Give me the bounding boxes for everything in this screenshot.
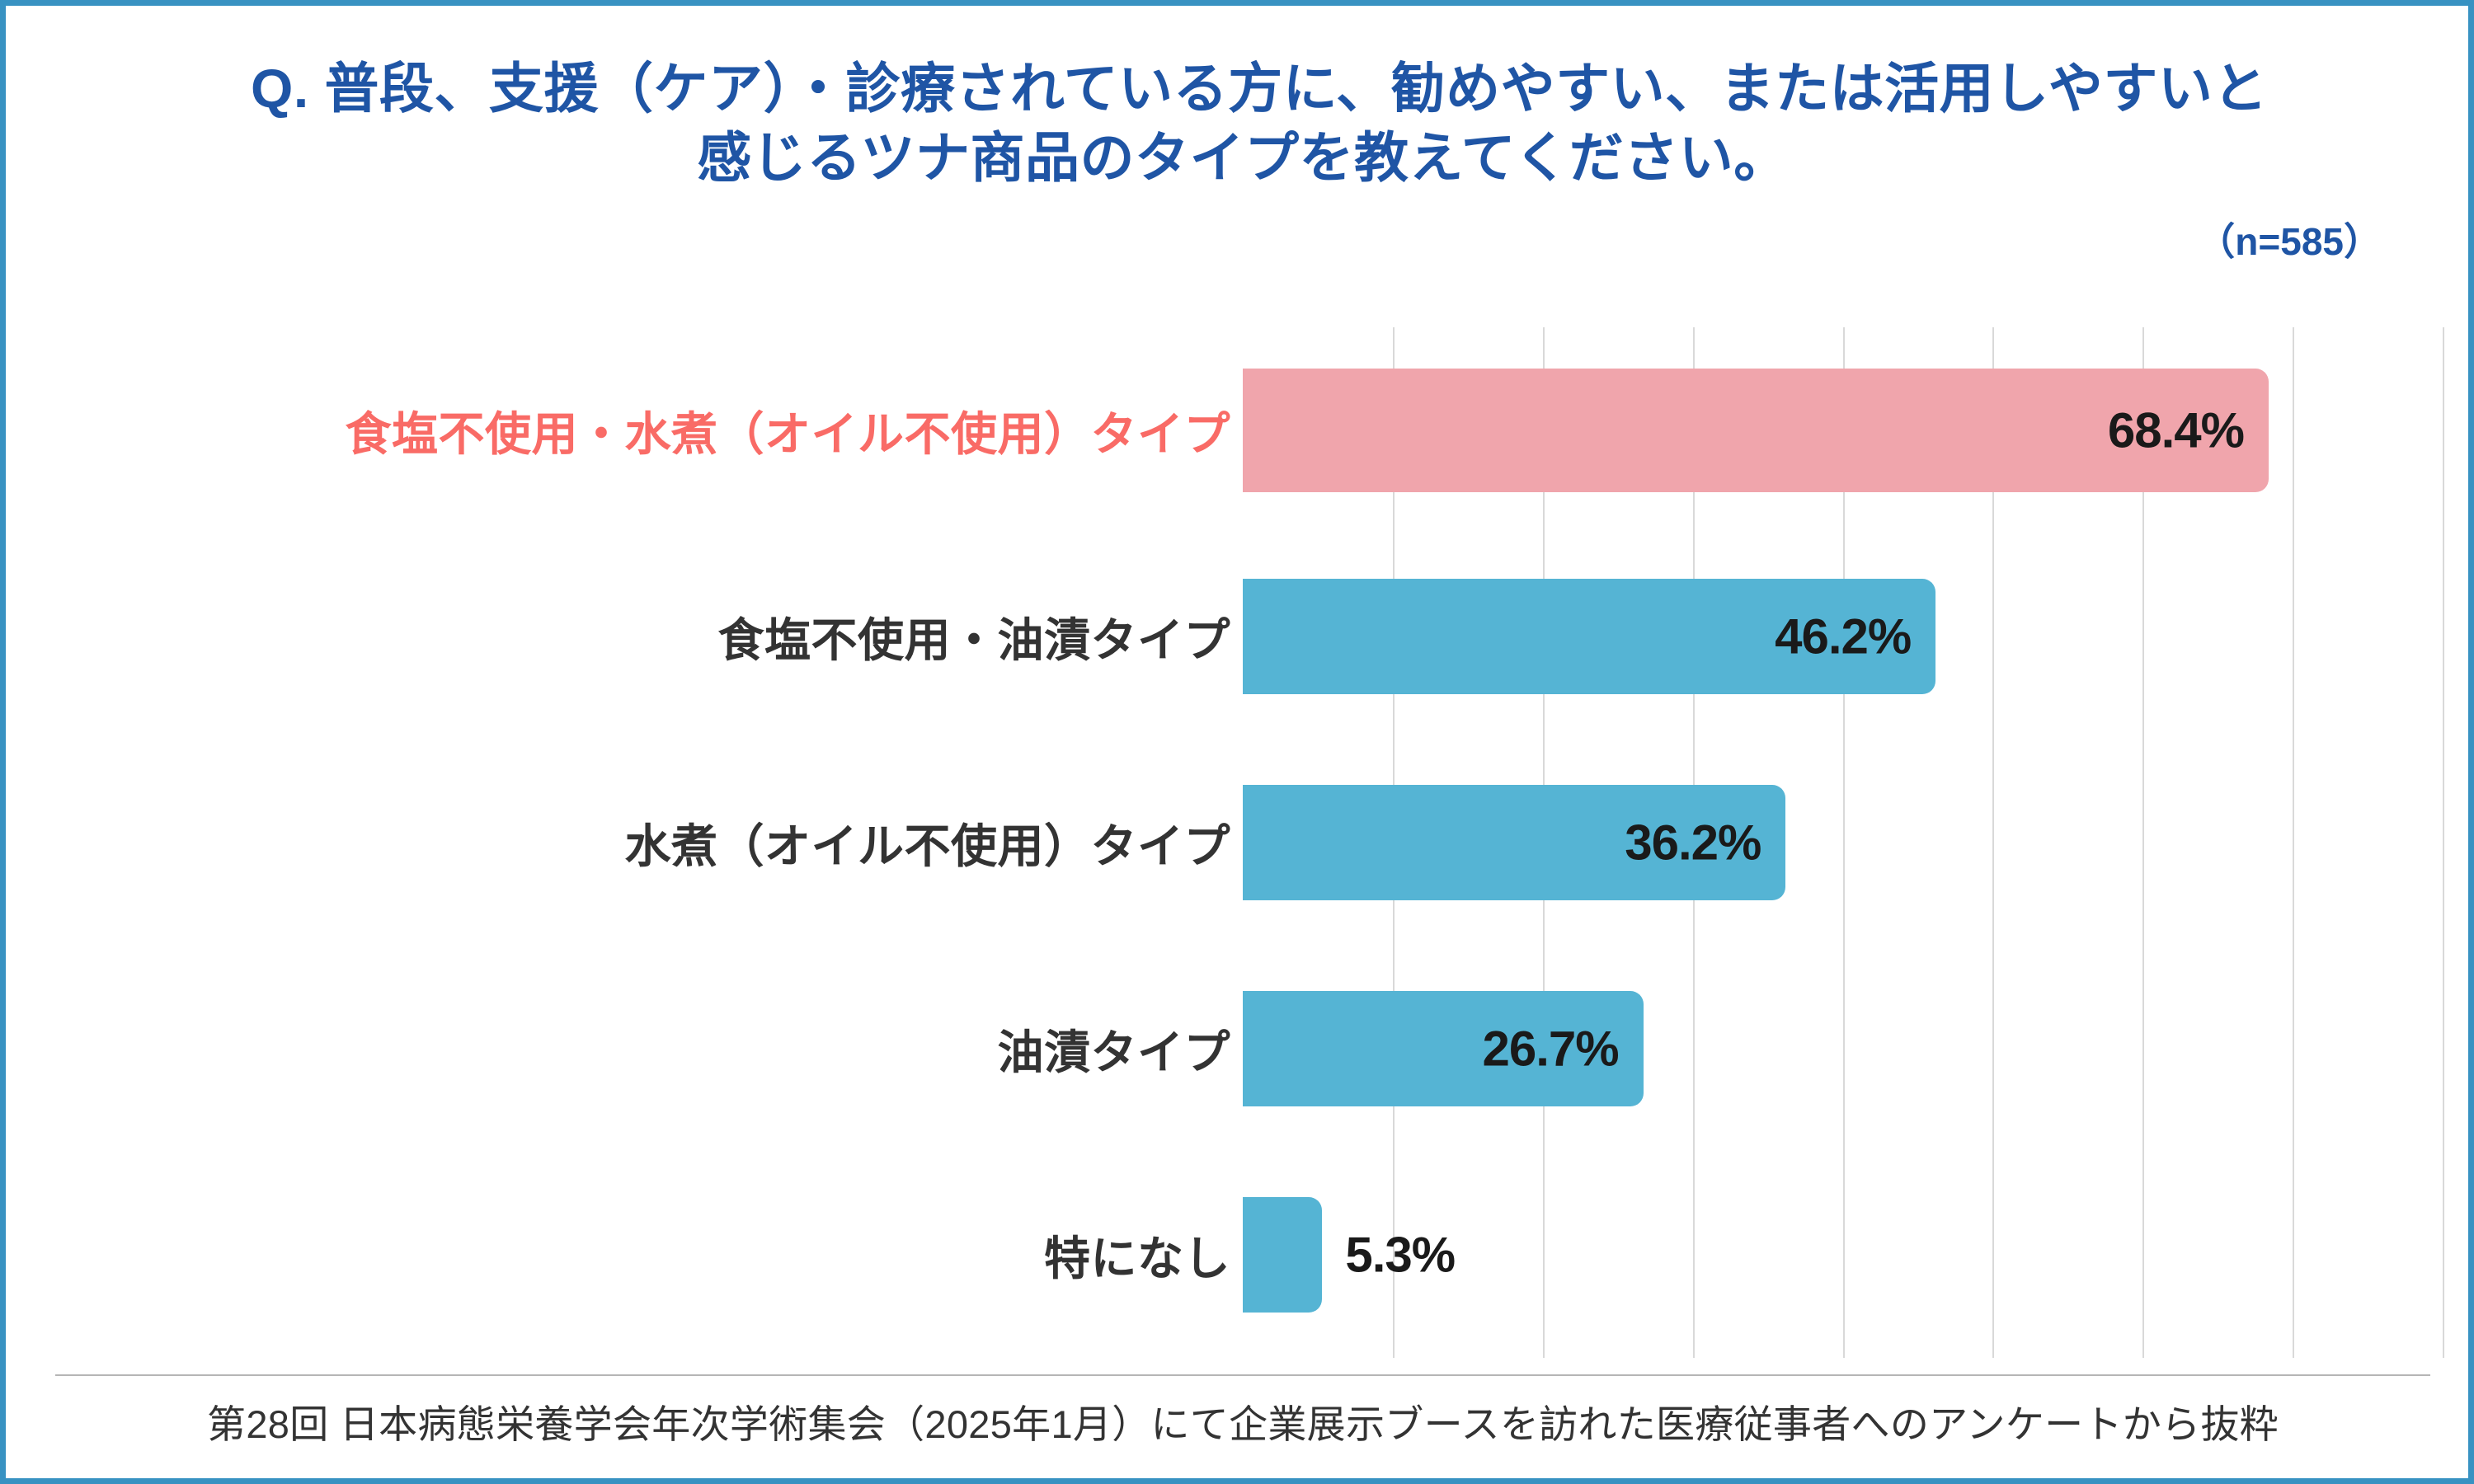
value-label: 46.2% bbox=[1775, 608, 1911, 665]
sample-size-label: （n=585） bbox=[2197, 212, 2382, 266]
value-label: 26.7% bbox=[1482, 1021, 1618, 1078]
category-label: 水煮（オイル不使用）タイプ bbox=[76, 810, 1230, 876]
chart-title: Q. 普段、支援（ケア）・診療されている方に、勧めやすい、または活用しやすいと … bbox=[6, 54, 2474, 193]
category-label: 食塩不使用・水煮（オイル不使用）タイプ bbox=[76, 397, 1230, 464]
footer-divider bbox=[55, 1374, 2430, 1376]
category-label: 油漬タイプ bbox=[76, 1016, 1230, 1082]
footnote: 第28回 日本病態栄養学会年次学術集会（2025年1月）にて企業展示ブースを訪れ… bbox=[6, 1392, 2474, 1449]
bar-row[interactable]: 食塩不使用・水煮（オイル不使用）タイプ68.4% bbox=[6, 327, 2474, 533]
category-label: 特になし bbox=[76, 1222, 1230, 1289]
value-label: 5.3% bbox=[1345, 1227, 1455, 1284]
bar-row[interactable]: 油漬タイプ26.7% bbox=[6, 946, 2474, 1152]
bar-rows: 食塩不使用・水煮（オイル不使用）タイプ68.4%食塩不使用・油漬タイプ46.2%… bbox=[6, 327, 2474, 1358]
slide-canvas: Q. 普段、支援（ケア）・診療されている方に、勧めやすい、または活用しやすいと … bbox=[0, 0, 2474, 1484]
value-label: 68.4% bbox=[2108, 402, 2244, 459]
title-line-1: Q. 普段、支援（ケア）・診療されている方に、勧めやすい、または活用しやすいと bbox=[6, 54, 2474, 123]
bar-chart: 食塩不使用・水煮（オイル不使用）タイプ68.4%食塩不使用・油漬タイプ46.2%… bbox=[6, 327, 2474, 1358]
value-label: 36.2% bbox=[1625, 815, 1761, 871]
title-line-2: 感じるツナ商品のタイプを教えてください。 bbox=[6, 123, 2474, 192]
bar[interactable] bbox=[1243, 1197, 1322, 1313]
bar-row[interactable]: 特になし5.3% bbox=[6, 1152, 2474, 1358]
bar-row[interactable]: 水煮（オイル不使用）タイプ36.2% bbox=[6, 740, 2474, 946]
bar-row[interactable]: 食塩不使用・油漬タイプ46.2% bbox=[6, 533, 2474, 740]
category-label: 食塩不使用・油漬タイプ bbox=[76, 603, 1230, 670]
